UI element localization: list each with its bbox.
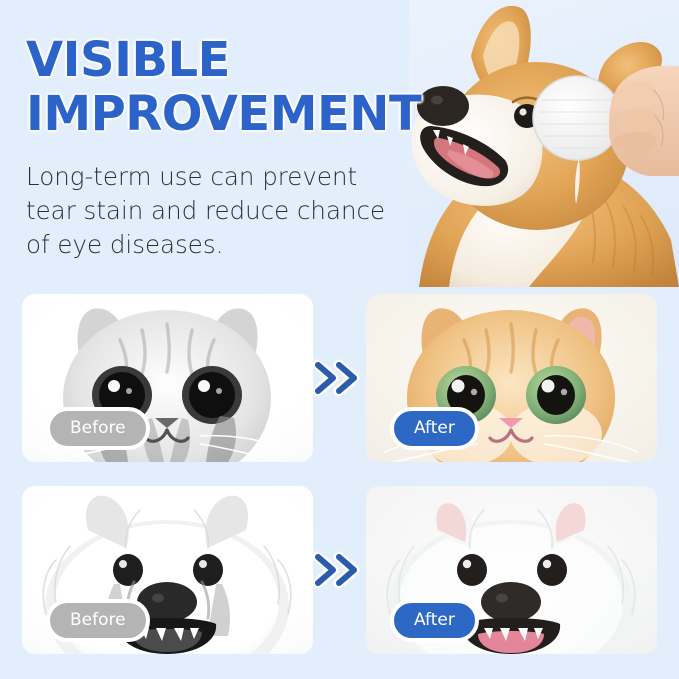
headline-line-1: VISIBLE	[26, 33, 446, 87]
hero-section: VISIBLE IMPROVEMENT Long-term use can pr…	[0, 0, 679, 287]
hero-photo-corgi-wipe	[409, 0, 679, 287]
before-badge-dog: Before	[46, 599, 150, 642]
comparison-row-dog: Before	[0, 486, 679, 654]
comparison-row-cat: Before	[0, 294, 679, 462]
page-title: VISIBLE IMPROVEMENT	[26, 33, 446, 141]
double-chevron-right-icon-dog	[306, 542, 364, 598]
double-chevron-right-icon-cat	[306, 350, 364, 406]
hero-subhead: Long-term use can prevent tear stain and…	[26, 160, 396, 262]
after-badge-cat: After	[390, 407, 479, 450]
after-panel-dog: After	[366, 486, 657, 654]
after-badge-dog: After	[390, 599, 479, 642]
after-panel-cat: After	[366, 294, 657, 462]
before-panel-cat: Before	[22, 294, 313, 462]
before-panel-dog: Before	[22, 486, 313, 654]
before-badge-cat: Before	[46, 407, 150, 450]
headline-line-2: IMPROVEMENT	[26, 87, 446, 141]
